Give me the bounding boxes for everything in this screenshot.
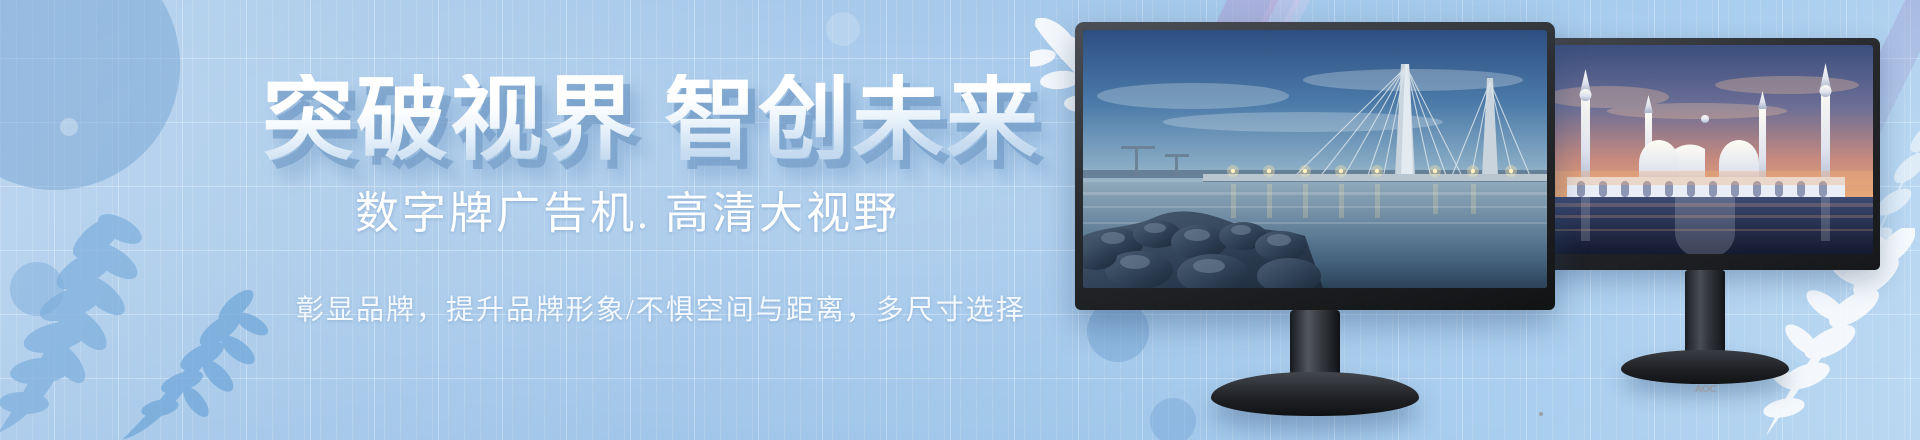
monitor-back-screen: [1537, 45, 1873, 254]
promo-banner: 突破视界智创未来 数字牌广告机. 高清大视野 彰显品牌，提升品牌形象/不惧空间与…: [0, 0, 1920, 440]
tagline: 彰显品牌，提升品牌形象/不惧空间与距离，多尺寸选择: [296, 297, 1026, 325]
aoc-logo-back: AOC: [1685, 383, 1725, 396]
headline-part-2: 智创未来: [664, 69, 1040, 171]
monitor-front: AOC: [1075, 22, 1555, 422]
mosque-sunset-image: [1537, 45, 1873, 254]
subtitle: 数字牌广告机. 高清大视野: [355, 192, 900, 236]
monitor-back: AOC: [1530, 38, 1880, 398]
bridge-dusk-image: [1083, 30, 1547, 288]
monitor-back-base: [1621, 350, 1789, 384]
power-indicator-icon: [1539, 412, 1543, 416]
product-monitors: AOC: [1075, 0, 1920, 440]
monitor-front-screen: [1083, 30, 1547, 288]
copy-block: 突破视界智创未来 数字牌广告机. 高清大视野 彰显品牌，提升品牌形象/不惧空间与…: [0, 0, 1120, 440]
monitor-back-neck: [1685, 270, 1725, 358]
headline: 突破视界智创未来: [262, 74, 1040, 166]
monitor-front-bezel: [1075, 22, 1555, 310]
monitor-back-bezel: [1530, 38, 1880, 270]
monitor-front-base: [1211, 372, 1419, 416]
headline-part-1: 突破视界: [262, 69, 638, 171]
